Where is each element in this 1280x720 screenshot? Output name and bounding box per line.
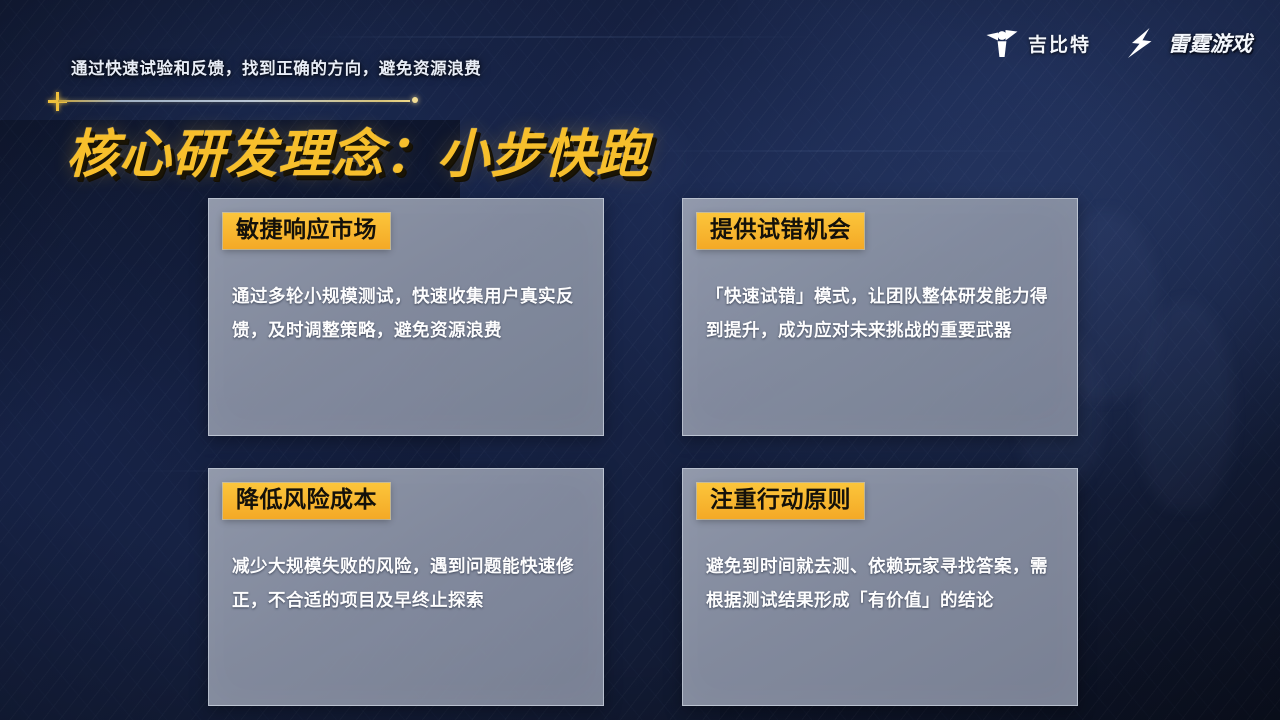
logo-thunder: 雷霆游戏 — [1125, 26, 1252, 60]
concept-card[interactable]: 敏捷响应市场 通过多轮小规模测试，快速收集用户真实反馈，及时调整策略，避免资源浪… — [208, 198, 604, 436]
page-title: 核心研发理念：小步快跑 — [66, 112, 649, 187]
card-body-text: 「快速试错」模式，让团队整体研发能力得到提升，成为应对未来挑战的重要武器 — [706, 279, 1059, 347]
card-badge-label: 注重行动原则 — [710, 486, 851, 512]
logo-jibit-label: 吉比特 — [1028, 30, 1091, 57]
card-badge: 敏捷响应市场 — [223, 213, 390, 249]
slide-canvas: 通过快速试验和反馈，找到正确的方向，避免资源浪费 核心研发理念：小步快跑 吉比特 — [0, 0, 1280, 720]
bg-silhouette-2 — [1138, 300, 1234, 510]
bg-streak-2 — [640, 150, 1060, 152]
logo-jibit: 吉比特 — [985, 26, 1091, 60]
card-body-text: 避免到时间就去测、依赖玩家寻找答案，需根据测试结果形成「有价值」的结论 — [706, 549, 1059, 617]
card-badge: 降低风险成本 — [223, 483, 390, 519]
card-badge: 提供试错机会 — [697, 213, 864, 249]
card-body-text: 通过多轮小规模测试，快速收集用户真实反馈，及时调整策略，避免资源浪费 — [232, 279, 585, 347]
title-divider — [48, 99, 420, 102]
card-badge: 注重行动原则 — [697, 483, 864, 519]
divider-end-dot — [412, 97, 419, 104]
card-badge-label: 降低风险成本 — [236, 486, 377, 512]
lightning-bolt-icon — [1125, 26, 1159, 60]
concept-card[interactable]: 提供试错机会 「快速试错」模式，让团队整体研发能力得到提升，成为应对未来挑战的重… — [682, 198, 1078, 436]
card-body-text: 减少大规模失败的风险，遇到问题能快速修正，不合适的项目及早终止探索 — [232, 549, 585, 617]
bg-streak-1 — [300, 36, 820, 38]
card-badge-label: 敏捷响应市场 — [236, 216, 377, 242]
angel-icon — [985, 26, 1019, 60]
concept-card[interactable]: 注重行动原则 避免到时间就去测、依赖玩家寻找答案，需根据测试结果形成「有价值」的… — [682, 468, 1078, 706]
divider-line — [58, 100, 410, 102]
logo-bar: 吉比特 雷霆游戏 — [985, 26, 1252, 60]
concept-card[interactable]: 降低风险成本 减少大规模失败的风险，遇到问题能快速修正，不合适的项目及早终止探索 — [208, 468, 604, 706]
card-badge-label: 提供试错机会 — [710, 216, 851, 242]
logo-thunder-label: 雷霆游戏 — [1168, 28, 1252, 58]
concept-card-grid: 敏捷响应市场 通过多轮小规模测试，快速收集用户真实反馈，及时调整策略，避免资源浪… — [208, 198, 1078, 706]
plus-icon — [48, 92, 67, 111]
slide-subtitle: 通过快速试验和反馈，找到正确的方向，避免资源浪费 — [71, 55, 481, 79]
